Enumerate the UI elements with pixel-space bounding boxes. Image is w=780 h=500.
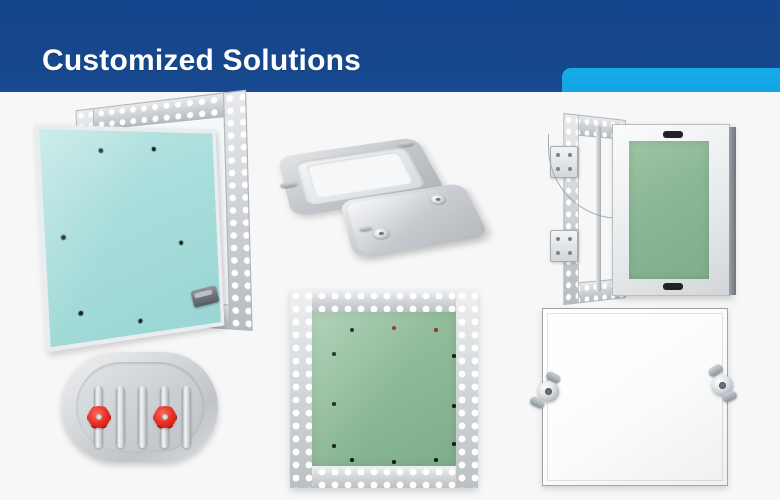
cam-lock-icon (372, 227, 390, 239)
panel-door-teal-board (34, 124, 224, 352)
green-gypsum-board (312, 312, 456, 466)
door-edge-shadow (729, 127, 736, 295)
oval-cover-recess (76, 362, 204, 452)
pipe (138, 386, 147, 448)
perforated-flange-bottom (290, 466, 478, 488)
screw-dot (179, 241, 183, 245)
screw-dot (61, 235, 66, 240)
perforated-flange-top (290, 290, 478, 312)
screw-dot (138, 319, 142, 324)
red-valve-handwheel (154, 406, 176, 428)
door-latch-black (663, 283, 683, 290)
screw-dot (79, 311, 84, 316)
perforated-flange-left (290, 290, 312, 488)
door-latch-black (663, 131, 683, 138)
pipe (116, 386, 125, 448)
cam-lock-left-icon (532, 374, 564, 408)
green-gypsum-board (629, 141, 709, 279)
perforated-flange-right (456, 290, 478, 488)
product-hinged-panel-green-board[interactable] (540, 112, 740, 312)
screw-dot (99, 148, 103, 152)
door-latch-tab (359, 226, 372, 232)
frame-latch-tab (280, 181, 297, 188)
cam-lock-right-icon (706, 368, 738, 402)
white-access-door (542, 308, 728, 486)
page-header: Customized Solutions (0, 0, 780, 92)
pipe (182, 386, 191, 448)
product-white-square-panel-cam-locks[interactable] (542, 308, 728, 486)
product-square-green-board-panel[interactable] (290, 290, 478, 488)
accent-bar (562, 68, 780, 92)
red-valve-handwheel (88, 406, 110, 428)
oval-cover-body (62, 352, 218, 462)
product-oval-valve-access-panel[interactable] (62, 352, 218, 462)
screw-dot (152, 147, 156, 151)
frame-latch-tab (398, 141, 415, 147)
page-title: Customized Solutions (42, 40, 542, 82)
product-open-access-panel-teal-board[interactable] (24, 102, 254, 332)
hinge-lower (550, 230, 578, 262)
panel-frame (290, 290, 478, 488)
product-rounded-hatch-frame-and-door[interactable] (284, 126, 496, 266)
panel-door (612, 124, 730, 296)
page-root: Customized Solutions (0, 0, 780, 500)
cam-lock-icon (429, 194, 447, 205)
